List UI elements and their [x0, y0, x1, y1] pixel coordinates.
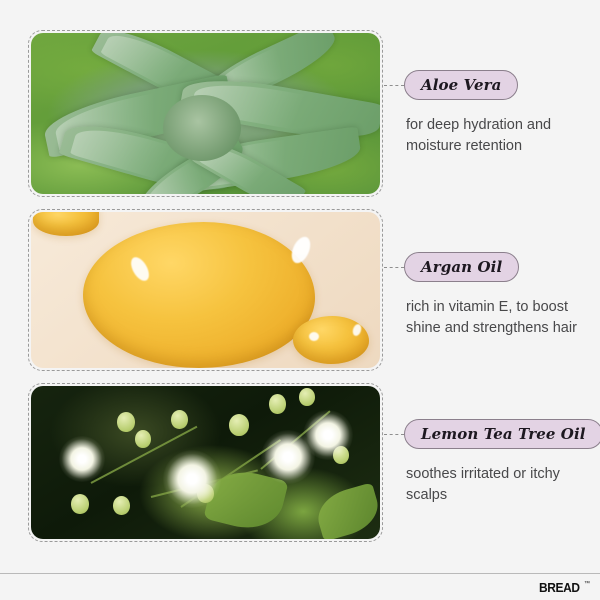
- ingredient-description-lemon-tea-tree-oil: soothes irritated or itchy scalps: [406, 464, 581, 506]
- connector-line-argan-oil: [384, 267, 404, 268]
- trademark-symbol: ™: [584, 581, 590, 587]
- aloe-vera-plant-photo: [31, 33, 380, 194]
- connector-line-aloe-vera: [384, 85, 404, 86]
- brand-logo-text: BREAD: [539, 580, 580, 595]
- aloe-rosette-center: [163, 95, 241, 161]
- lemon-tea-tree-flowers-photo: [31, 386, 380, 539]
- white-flower: [59, 436, 105, 482]
- ingredient-row-lemon-tea-tree-oil: Lemon Tea Tree Oil soothes irritated or …: [0, 383, 600, 542]
- ingredient-label-aloe-vera[interactable]: Aloe Vera: [404, 70, 518, 100]
- connector-line-lemon-tea-tree-oil: [384, 434, 404, 435]
- ingredient-photo-card-argan-oil[interactable]: [28, 209, 383, 371]
- ingredient-label-argan-oil[interactable]: Argan Oil: [404, 252, 519, 282]
- white-flower: [303, 410, 353, 460]
- oil-droplet-main: [83, 222, 315, 368]
- flower-bud: [229, 414, 249, 436]
- flower-bud: [135, 430, 151, 448]
- ingredient-photo-card-aloe-vera[interactable]: [28, 30, 383, 197]
- ingredient-label-lemon-tea-tree-oil[interactable]: Lemon Tea Tree Oil: [404, 419, 600, 449]
- flower-bud: [269, 394, 286, 414]
- flower-bud: [113, 496, 130, 515]
- brand-logo[interactable]: BREAD ™: [539, 580, 590, 595]
- footer-divider: [0, 573, 600, 574]
- oil-highlight: [309, 332, 319, 341]
- argan-oil-droplet-photo: [31, 212, 380, 368]
- ingredient-description-argan-oil: rich in vitamin E, to boost shine and st…: [406, 297, 581, 339]
- flower-bud: [299, 388, 315, 406]
- white-flower: [163, 450, 221, 508]
- ingredient-row-aloe-vera: Aloe Vera for deep hydration and moistur…: [0, 30, 600, 197]
- oil-droplet-corner: [33, 212, 99, 236]
- ingredient-row-argan-oil: Argan Oil rich in vitamin E, to boost sh…: [0, 209, 600, 371]
- flower-bud: [71, 494, 89, 514]
- ingredient-description-aloe-vera: for deep hydration and moisture retentio…: [406, 115, 581, 157]
- ingredients-infographic: Aloe Vera for deep hydration and moistur…: [0, 0, 600, 600]
- flower-bud: [171, 410, 188, 429]
- green-leaf: [312, 482, 380, 539]
- ingredient-photo-card-lemon-tea-tree-oil[interactable]: [28, 383, 383, 542]
- flower-bud: [117, 412, 135, 432]
